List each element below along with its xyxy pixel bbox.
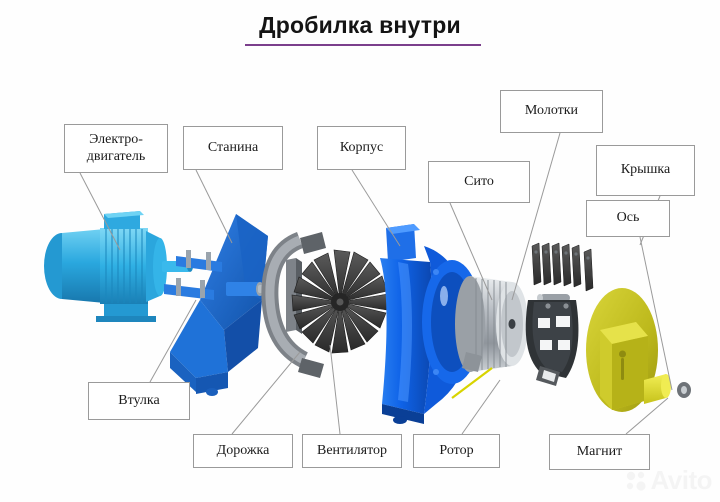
leader-line-axle [640,237,672,390]
leader-line-electric-motor [80,173,120,250]
avito-watermark-text: Avito [650,465,712,496]
leader-line-body [352,170,400,246]
callout-label-fan: Вентилятор [313,443,391,459]
callout-label-hammers: Молотки [521,103,582,119]
avito-watermark: Avito [625,465,712,496]
callout-box-cover[interactable]: Крышка [596,145,695,196]
callout-box-rotor[interactable]: Ротор [413,434,500,468]
avito-dots-icon [625,470,647,492]
leader-line-sieve [450,203,492,300]
leader-line-magnet [626,398,668,434]
callout-label-body: Корпус [336,140,387,156]
callout-label-cover: Крышка [617,162,674,178]
callout-label-electric-motor: Электро-двигатель [79,132,154,164]
callout-label-track: Дорожка [213,443,274,459]
leader-line-fan [330,345,340,434]
callout-label-bushing: Втулка [114,393,163,409]
callout-box-bushing[interactable]: Втулка [88,382,190,420]
leader-line-frame [196,170,232,243]
callout-box-sieve[interactable]: Сито [428,161,530,203]
callout-box-frame[interactable]: Станина [183,126,283,170]
callout-box-axle[interactable]: Ось [586,200,670,237]
leader-line-rotor [462,380,500,434]
callout-label-rotor: Ротор [435,443,477,459]
callout-label-magnet: Магнит [573,444,627,460]
callout-box-electric-motor[interactable]: Электро-двигатель [64,124,168,173]
callout-label-sieve: Сито [460,174,498,190]
leader-line-bushing [150,300,196,382]
callout-box-hammers[interactable]: Молотки [500,90,603,133]
callout-label-frame: Станина [204,140,262,156]
leader-lines [0,0,720,502]
leader-line-track [232,352,300,434]
slide-canvas: Дробилка внутри Электро-двигательСтанина… [0,0,720,502]
callout-box-body[interactable]: Корпус [317,126,406,170]
callout-box-fan[interactable]: Вентилятор [302,434,402,468]
callout-label-electric-motor-line2: двигатель [83,149,150,165]
callout-box-track[interactable]: Дорожка [193,434,293,468]
callout-label-axle: Ось [613,210,644,226]
leader-line-hammers [512,133,560,300]
